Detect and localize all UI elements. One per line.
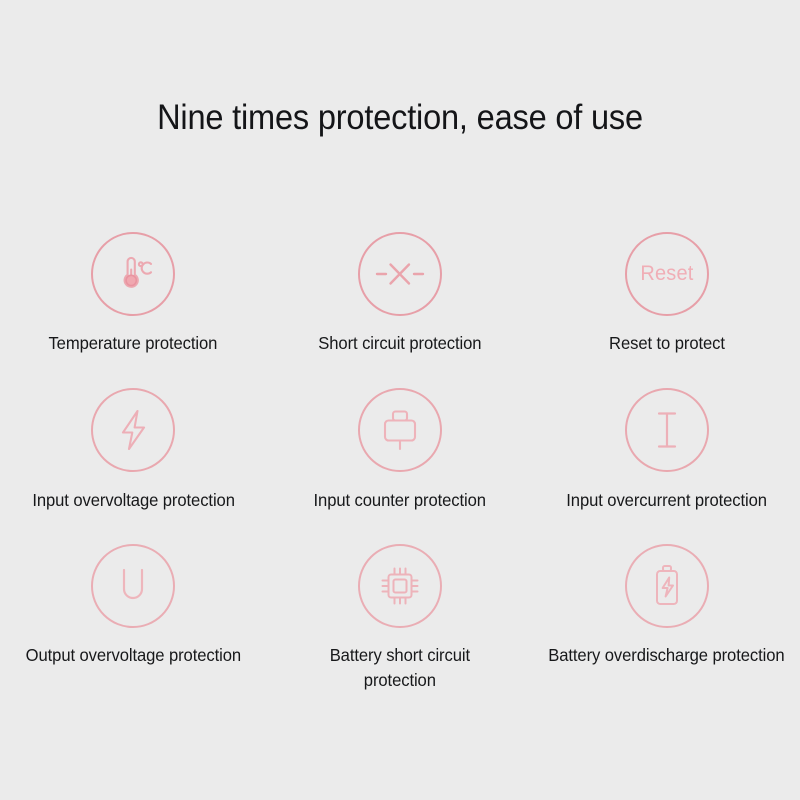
feature-icon-circle (625, 544, 709, 628)
feature-item-short-circuit-protection: Short circuit protection (267, 232, 534, 388)
voltage-symbol-icon (117, 567, 149, 605)
power-plug-icon (379, 408, 421, 452)
feature-label: Temperature protection (49, 331, 218, 356)
feature-label: Input overcurrent protection (566, 488, 767, 513)
short-circuit-cross-icon (375, 257, 425, 291)
feature-icon-circle (91, 388, 175, 472)
feature-item-input-overvoltage-protection: Input overvoltage protection (0, 388, 267, 544)
reset-text-icon: Reset (640, 262, 693, 286)
chip-icon (377, 563, 423, 609)
feature-label: Short circuit protection (318, 331, 481, 356)
feature-item-input-overcurrent-protection: Input overcurrent protection (533, 388, 800, 544)
lightning-bolt-icon (116, 408, 150, 452)
features-grid: Temperature protection Short circuit pro… (0, 232, 800, 693)
protection-features-page: Nine times protection, ease of use Tempe… (0, 0, 800, 800)
feature-icon-circle (91, 544, 175, 628)
feature-icon-circle: Reset (625, 232, 709, 316)
feature-icon-circle (358, 232, 442, 316)
feature-label: Input counter protection (314, 488, 486, 513)
feature-label: Output overvoltage protection (26, 643, 241, 668)
feature-icon-circle (358, 388, 442, 472)
feature-item-reset-to-protect: Reset Reset to protect (533, 232, 800, 388)
feature-label: Reset to protect (609, 331, 725, 356)
feature-label: Battery overdischarge protection (549, 643, 785, 668)
feature-label: Input overvoltage protection (32, 488, 235, 513)
page-title: Nine times protection, ease of use (28, 98, 772, 138)
thermometer-celsius-icon (110, 251, 156, 297)
feature-item-output-overvoltage-protection: Output overvoltage protection (0, 544, 267, 693)
feature-item-temperature-protection: Temperature protection (0, 232, 267, 388)
battery-bolt-icon (649, 563, 685, 609)
feature-item-battery-short-circuit-protection: Battery short circuit protection (267, 544, 534, 693)
current-symbol-icon (653, 410, 681, 450)
feature-icon-circle (358, 544, 442, 628)
feature-icon-circle (625, 388, 709, 472)
feature-icon-circle (91, 232, 175, 316)
feature-item-input-counter-protection: Input counter protection (267, 388, 534, 544)
feature-label: Battery short circuit protection (330, 643, 470, 693)
feature-item-battery-overdischarge-protection: Battery overdischarge protection (533, 544, 800, 693)
